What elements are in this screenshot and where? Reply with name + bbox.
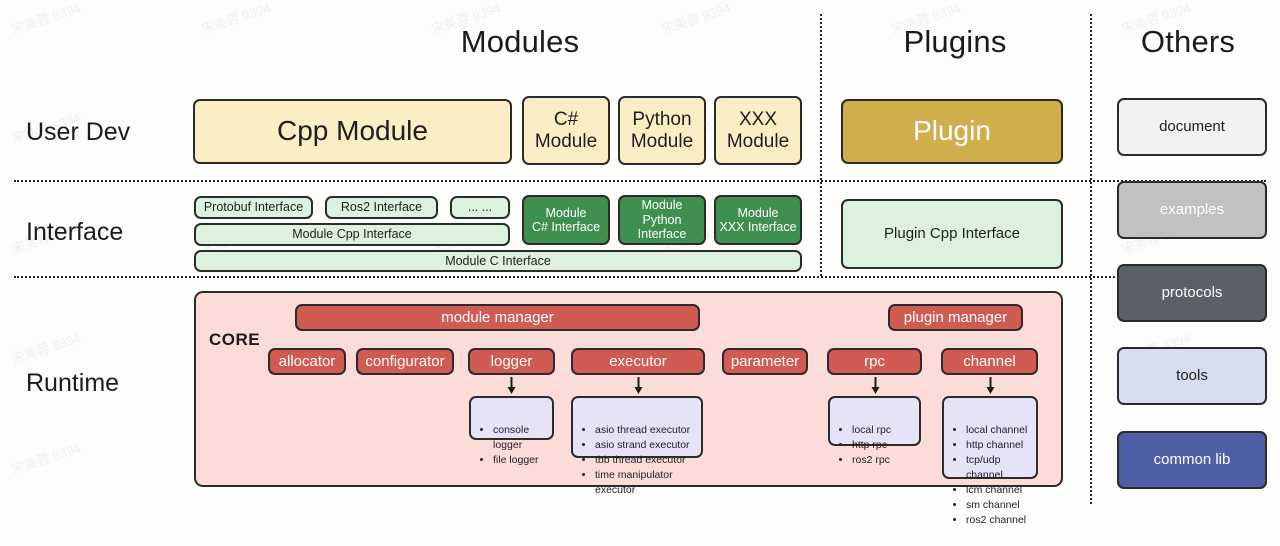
- list-item: asio strand executor: [595, 438, 693, 453]
- others-common-lib-box[interactable]: common lib: [1117, 431, 1267, 489]
- channel-items-list: local channelhttp channeltcp/udp channel…: [953, 423, 1028, 527]
- list-item: local channel: [966, 423, 1028, 438]
- list-item: tcp/udp channel: [966, 453, 1028, 483]
- arrow-down-icon: [504, 377, 518, 394]
- watermark: 宋美蓉 9394: [199, 0, 273, 38]
- more-interface-box[interactable]: ... ...: [450, 196, 510, 219]
- list-item: http channel: [966, 438, 1028, 453]
- list-item: tbb thread executor: [595, 453, 693, 468]
- arrow-down-icon: [868, 377, 882, 394]
- module-xxx-interface-box[interactable]: Module XXX Interface: [714, 195, 802, 245]
- divider-modules-plugins: [820, 14, 822, 276]
- column-header-plugins: Plugins: [828, 24, 1082, 60]
- module-manager-box[interactable]: module manager: [295, 304, 700, 331]
- configurator-box[interactable]: configurator: [356, 348, 454, 375]
- core-label: CORE: [209, 330, 260, 350]
- list-item: time manipulator executor: [595, 468, 693, 498]
- row-label-runtime: Runtime: [26, 369, 119, 398]
- rpc-items-list: local rpchttp rpcros2 rpc: [839, 423, 911, 468]
- channel-items-box: local channelhttp channeltcp/udp channel…: [942, 396, 1038, 479]
- module-cpp-interface-box[interactable]: Module Cpp Interface: [194, 223, 510, 246]
- csharp-module-box[interactable]: C# Module: [522, 96, 610, 165]
- module-csharp-interface-box[interactable]: Module C# Interface: [522, 195, 610, 245]
- logger-box[interactable]: logger: [468, 348, 555, 375]
- row-label-user-dev: User Dev: [26, 118, 130, 147]
- parameter-box[interactable]: parameter: [722, 348, 808, 375]
- others-protocols-box[interactable]: protocols: [1117, 264, 1267, 322]
- xxx-module-box[interactable]: XXX Module: [714, 96, 802, 165]
- watermark: 宋美蓉 9394: [9, 327, 83, 367]
- list-item: file logger: [493, 453, 544, 468]
- ros2-interface-box[interactable]: Ros2 Interface: [325, 196, 438, 219]
- list-item: console logger: [493, 423, 544, 453]
- list-item: lcm channel: [966, 483, 1028, 498]
- list-item: asio thread executor: [595, 423, 693, 438]
- divider-userdev-interface: [14, 180, 1266, 182]
- others-examples-box[interactable]: examples: [1117, 181, 1267, 239]
- divider-interface-runtime: [14, 276, 1266, 278]
- module-c-interface-box[interactable]: Module C Interface: [194, 250, 802, 272]
- divider-plugins-others: [1090, 14, 1092, 504]
- others-document-box[interactable]: document: [1117, 98, 1267, 156]
- watermark: 宋美蓉 9394: [9, 437, 83, 477]
- cpp-module-box[interactable]: Cpp Module: [193, 99, 512, 164]
- python-module-box[interactable]: Python Module: [618, 96, 706, 165]
- others-tools-box[interactable]: tools: [1117, 347, 1267, 405]
- watermark: 宋美蓉 9394: [9, 0, 83, 38]
- list-item: ros2 channel: [966, 513, 1028, 528]
- rpc-box[interactable]: rpc: [827, 348, 922, 375]
- arrow-down-icon: [983, 377, 997, 394]
- protobuf-interface-box[interactable]: Protobuf Interface: [194, 196, 313, 219]
- list-item: local rpc: [852, 423, 911, 438]
- list-item: http rpc: [852, 438, 911, 453]
- diagram-canvas: 宋美蓉 9394 宋美蓉 9394 宋美蓉 9394 宋美蓉 9394 宋美蓉 …: [0, 0, 1280, 519]
- plugin-cpp-interface-box[interactable]: Plugin Cpp Interface: [841, 199, 1063, 269]
- column-header-modules: Modules: [330, 24, 710, 60]
- row-label-interface: Interface: [26, 218, 123, 247]
- arrow-down-icon: [631, 377, 645, 394]
- plugin-box[interactable]: Plugin: [841, 99, 1063, 164]
- executor-items-box: asio thread executorasio strand executor…: [571, 396, 703, 458]
- rpc-items-box: local rpchttp rpcros2 rpc: [828, 396, 921, 446]
- list-item: ros2 rpc: [852, 453, 911, 468]
- allocator-box[interactable]: allocator: [268, 348, 346, 375]
- logger-items-list: console loggerfile logger: [480, 423, 544, 468]
- module-python-interface-box[interactable]: Module Python Interface: [618, 195, 706, 245]
- logger-items-box: console loggerfile logger: [469, 396, 554, 440]
- channel-box[interactable]: channel: [941, 348, 1038, 375]
- executor-items-list: asio thread executorasio strand executor…: [582, 423, 693, 498]
- executor-box[interactable]: executor: [571, 348, 705, 375]
- list-item: sm channel: [966, 498, 1028, 513]
- column-header-others: Others: [1098, 24, 1278, 60]
- plugin-manager-box[interactable]: plugin manager: [888, 304, 1023, 331]
